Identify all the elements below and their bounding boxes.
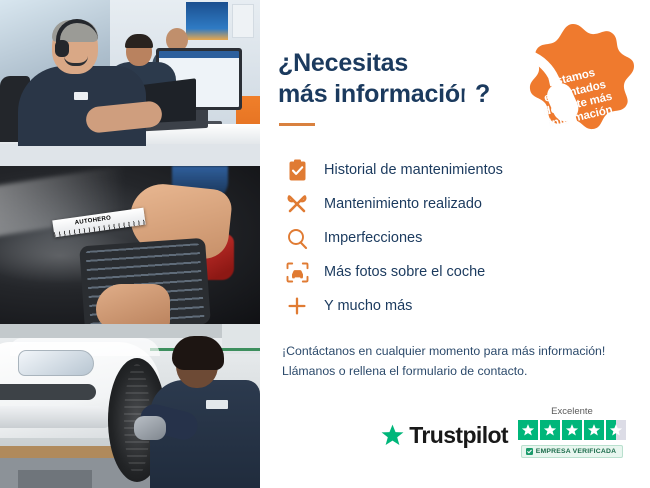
feature-item-maintenance-history: Historial de mantenimientos xyxy=(282,154,622,186)
car-grille xyxy=(0,384,96,400)
verified-company-label: EMPRESA VERIFICADA xyxy=(536,448,616,455)
plus-icon xyxy=(282,291,312,321)
feature-label: Imperfecciones xyxy=(324,230,422,246)
car-photo-frame-icon xyxy=(282,257,312,287)
workshop-shelf xyxy=(0,324,260,338)
feature-list: Historial de mantenimientos Mantenimient… xyxy=(282,154,622,322)
feature-label: Mantenimiento realizado xyxy=(324,196,482,212)
agent-name-badge xyxy=(74,92,88,100)
feature-item-maintenance-done: Mantenimiento realizado xyxy=(282,188,622,220)
wall-poster xyxy=(186,2,228,40)
magnifier-icon xyxy=(282,223,312,253)
support-badge: Estamos encantados de darte más informac… xyxy=(512,22,634,144)
photo-inspection-ruler: AUTOHERO xyxy=(0,166,260,324)
mechanic-glove xyxy=(134,416,166,440)
star-filled-4 xyxy=(584,420,604,440)
trustpilot-score-block: Excelente xyxy=(518,406,626,458)
photo-call-centre-agent xyxy=(0,0,260,166)
trustpilot-stars xyxy=(518,420,626,440)
verified-check-icon xyxy=(526,448,533,455)
headset-earcup xyxy=(55,40,69,57)
trustpilot-rating[interactable]: Trustpilot Excelente xyxy=(380,406,626,458)
contact-line-1: ¡Contáctanos en cualquier momento para m… xyxy=(282,344,605,358)
title-divider xyxy=(279,123,315,126)
content-panel: ¿Necesitas más información? Estamos enca… xyxy=(260,0,650,488)
photo-wheel-check xyxy=(0,324,260,488)
wall-notice xyxy=(232,4,254,38)
car-headlight xyxy=(18,350,94,376)
contact-line-2: Llámanos o rellena el formulario de cont… xyxy=(282,364,527,378)
feature-label: Y mucho más xyxy=(324,298,412,314)
star-filled-1 xyxy=(518,420,538,440)
feature-label: Más fotos sobre el coche xyxy=(324,264,485,280)
feature-item-more: Y mucho más xyxy=(282,290,622,322)
mechanic-uniform-logo xyxy=(206,400,228,409)
desk-front xyxy=(0,144,260,166)
trustpilot-wordmark: Trustpilot xyxy=(409,422,508,449)
trustpilot-rating-label: Excelente xyxy=(551,406,593,417)
background-person-one-hair xyxy=(125,34,153,48)
information-promo-panel: AUTOHERO xyxy=(0,0,650,488)
star-filled-3 xyxy=(562,420,582,440)
page-title-line-1: ¿Necesitas xyxy=(278,49,408,77)
photo-column: AUTOHERO xyxy=(0,0,260,488)
tools-cross-icon xyxy=(282,189,312,219)
trustpilot-star-icon xyxy=(380,423,405,448)
inspector-hand-lower xyxy=(96,284,170,324)
star-half-5 xyxy=(606,420,626,440)
mechanic-hair xyxy=(172,336,224,370)
trustpilot-logo[interactable]: Trustpilot xyxy=(380,422,508,458)
car-bumper xyxy=(0,406,110,428)
clipboard-check-icon xyxy=(282,155,312,185)
car-lift-arm xyxy=(18,470,92,488)
contact-text: ¡Contáctanos en cualquier momento para m… xyxy=(282,342,622,382)
verified-company-badge: EMPRESA VERIFICADA xyxy=(521,445,623,458)
feature-item-imperfections: Imperfecciones xyxy=(282,222,622,254)
feature-item-more-photos: Más fotos sobre el coche xyxy=(282,256,622,288)
star-filled-2 xyxy=(540,420,560,440)
